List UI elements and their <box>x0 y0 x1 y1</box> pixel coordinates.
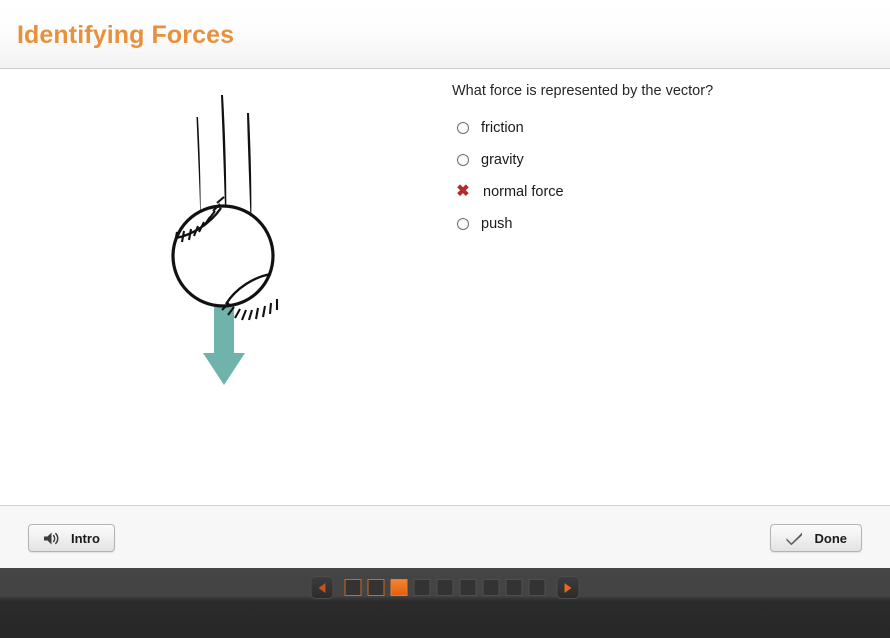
radio-icon[interactable] <box>452 218 474 230</box>
page-indicator-7[interactable] <box>483 579 500 596</box>
page-title: Identifying Forces <box>17 21 234 50</box>
checkmark-icon <box>785 531 804 546</box>
radio-icon[interactable] <box>452 122 474 134</box>
pagination-control <box>311 576 580 599</box>
question-panel: What force is represented by the vector?… <box>452 82 862 243</box>
answer-option-label: push <box>481 216 512 232</box>
radio-icon[interactable] <box>452 154 474 166</box>
intro-button-label: Intro <box>71 532 100 545</box>
answer-option-gravity[interactable]: gravity <box>452 147 862 173</box>
page-indicator-3[interactable] <box>391 579 408 596</box>
answer-option-label: friction <box>481 120 524 136</box>
page-indicator-2[interactable] <box>368 579 385 596</box>
next-page-button[interactable] <box>557 576 580 599</box>
triangle-left-icon <box>319 583 326 593</box>
force-illustration <box>130 85 320 405</box>
page-indicator-1[interactable] <box>345 579 362 596</box>
question-prompt: What force is represented by the vector? <box>452 82 862 101</box>
activity-screen: Identifying Forces <box>0 0 890 638</box>
intro-button[interactable]: Intro <box>28 524 115 552</box>
answer-option-label: normal force <box>483 184 564 200</box>
page-indicator-4[interactable] <box>414 579 431 596</box>
answer-option-push[interactable]: push <box>452 211 862 237</box>
speaker-icon <box>43 531 60 546</box>
page-indicator-6[interactable] <box>460 579 477 596</box>
incorrect-cross-icon: ✖ <box>452 184 474 200</box>
previous-page-button[interactable] <box>311 576 334 599</box>
header-bar: Identifying Forces <box>0 0 890 69</box>
pagination-strip <box>0 568 890 638</box>
main-content: What force is represented by the vector?… <box>0 70 890 505</box>
done-button-label: Done <box>815 532 848 545</box>
baseball <box>173 197 277 320</box>
page-indicator-5[interactable] <box>437 579 454 596</box>
answer-option-label: gravity <box>481 152 524 168</box>
triangle-right-icon <box>565 583 572 593</box>
answer-option-friction[interactable]: friction <box>452 115 862 141</box>
answer-option-list: friction gravity ✖ normal force push <box>452 115 862 237</box>
page-indicator-9[interactable] <box>529 579 546 596</box>
footer-bar: Intro Done <box>0 505 890 568</box>
page-indicator-list <box>345 579 546 596</box>
page-indicator-8[interactable] <box>506 579 523 596</box>
done-button[interactable]: Done <box>770 524 863 552</box>
answer-option-normal-force[interactable]: ✖ normal force <box>452 179 862 205</box>
